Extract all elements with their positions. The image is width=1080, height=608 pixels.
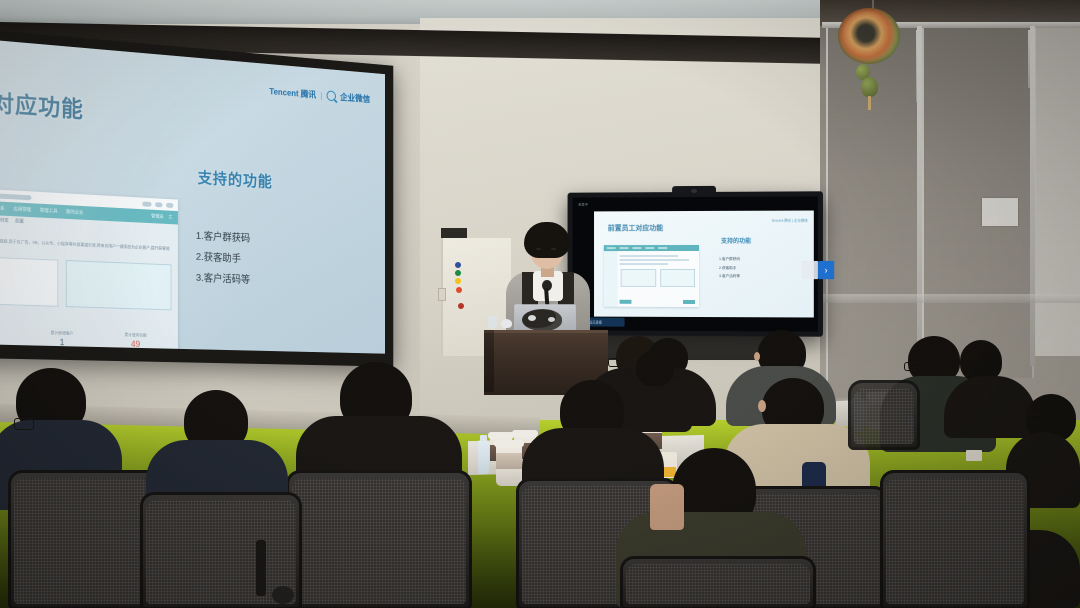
console-card-right: [66, 260, 172, 310]
audience-glasses-midrow-a: [608, 358, 623, 367]
tv-slide-subtitle: 支持的功能: [721, 236, 751, 245]
podium-side-panel: [484, 330, 494, 392]
embedded-console-screenshot: 首页 通讯录 客户联系 应用管理 管理工具 我的企业 管理员 工 客户联系 聊天…: [0, 186, 178, 353]
chair-mesh-front-center: [292, 478, 466, 604]
slide-subtitle: 支持的功能: [198, 165, 273, 192]
glass-band: [822, 294, 1080, 303]
console-nav-item-5: 我的企业: [66, 209, 83, 216]
chair-mesh-foreground: [626, 564, 810, 604]
slide-bullet-1: 1.客户群获码: [196, 225, 250, 248]
tv-bullet-2: 2.获客助手: [719, 263, 740, 272]
slide-brand-logo: Tencent 腾讯 | 企业微信: [269, 85, 370, 105]
chair-far-right[interactable]: [880, 470, 1030, 608]
console-admin-label: 管理员: [151, 214, 164, 220]
console-nav-right: 管理员 工: [151, 214, 172, 221]
projector-screen: 成对应功能 Tencent 腾讯 | 企业微信 支持的功能 1.客户群获码 2.…: [0, 28, 393, 367]
console-nav-item-4: 管理工具: [40, 208, 58, 215]
glass-notice-sign: [982, 198, 1018, 226]
podium-desk-items: [488, 316, 512, 328]
hanging-wreath-decoration: [838, 8, 900, 64]
tv-embedded-console: [604, 245, 699, 307]
projector-screen-surface: 成对应功能 Tencent 腾讯 | 企业微信 支持的功能 1.客户群获码 2.…: [0, 38, 385, 353]
console-stats-heading: 数据概览: [0, 311, 172, 324]
console-stat-2: 累计使用名额 49: [99, 331, 171, 349]
tv-slide-title: 前置员工对应功能: [608, 223, 663, 233]
tv-console-stats: [620, 286, 695, 293]
chair-back-right[interactable]: [848, 380, 920, 450]
console-stat-0-label: 当前剩余名额: [0, 327, 24, 335]
slide-bullet-3: 3.客户活码等: [196, 267, 250, 290]
window-mullion-right: [1030, 26, 1035, 366]
podium-small-object: [501, 319, 512, 328]
tv-next-slide-tag: [802, 261, 818, 279]
console-card-row: [0, 255, 172, 310]
console-card-left: [0, 255, 58, 307]
wecom-logo-text: 企业微信: [340, 91, 370, 105]
console-stat-0-value: 0: [0, 334, 24, 346]
water-bottle-center: [478, 440, 489, 474]
podium-water-cup: [488, 316, 497, 328]
audience-glasses-far-right-b: [1026, 414, 1041, 423]
wall-display-tv[interactable]: 投屏中 前置员工对应功能 Tencent 腾讯 | 企业微信 支持的功能 1.客…: [568, 191, 823, 336]
wreath-gourd-lower: [861, 77, 878, 97]
cup-lid-1: [488, 432, 514, 439]
conference-room-scene: 成对应功能 Tencent 腾讯 | 企业微信 支持的功能 1.客户群获码 2.…: [0, 0, 1080, 608]
chair-front-center[interactable]: [286, 470, 472, 608]
slide-bullet-2: 2.获客助手: [196, 246, 250, 269]
audience-glasses-front-left: [14, 418, 34, 430]
wall-outlet: [438, 288, 446, 301]
magnet-blue: [455, 262, 461, 268]
chair-mesh-far-right: [886, 478, 1024, 604]
magnet-yellow: [455, 278, 461, 284]
magnet-orange: [456, 287, 462, 293]
tv-console-cards: [621, 269, 695, 287]
audience-ear-beige-shirt: [758, 400, 766, 412]
window-blind-right: [1034, 26, 1080, 356]
audience-shoulders-far-right-a: [944, 376, 1036, 438]
tv-console-nav: [604, 245, 699, 251]
chair-mesh-back-right: [854, 388, 914, 444]
chair-caster-base: [256, 540, 266, 596]
tv-bullet-3: 3.客户活码等: [719, 272, 740, 281]
tv-slide-logo: Tencent 腾讯 | 企业微信: [771, 218, 807, 223]
slide-bullet-list: 1.客户群获码 2.获客助手 3.客户活码等: [196, 225, 250, 290]
magnet-red: [458, 303, 464, 309]
tencent-logo-text: Tencent 腾讯: [269, 85, 316, 101]
tv-next-slide-button[interactable]: ›: [818, 261, 834, 279]
laptop-sticker-decal: [522, 309, 562, 331]
audience-head-sidewall: [636, 350, 674, 386]
wecom-icon: [327, 90, 336, 101]
jacket-badge-patch: [966, 450, 982, 461]
cup-lid-2: [512, 430, 538, 437]
console-nav-item-3: 应用管理: [13, 206, 31, 213]
console-stat-0: 当前剩余名额 0: [0, 327, 24, 346]
chair-foreground[interactable]: [620, 556, 816, 608]
audience-glasses-phone-user: [904, 362, 919, 371]
tv-slide-bullets: 1.客户群获码 2.获客助手 3.客户活码等: [719, 255, 740, 281]
cup-lid-fg-left: [494, 440, 524, 447]
tv-console-buttons: [620, 300, 695, 304]
wreath-tassel: [868, 96, 871, 110]
tv-watermark: 投屏中: [578, 203, 588, 207]
tv-slide: 前置员工对应功能 Tencent 腾讯 | 企业微信 支持的功能 1.客户群获码…: [594, 211, 814, 318]
console-tab-3: 配置: [15, 218, 24, 224]
webcam-bar-icon: [672, 186, 716, 195]
slide-title: 成对应功能: [0, 82, 84, 124]
console-tab-2: 素材库: [0, 217, 9, 224]
audience-ear-midrow-c: [754, 352, 760, 361]
cup-sleeve-fg-left: [496, 453, 522, 469]
chair-caster-wheel: [272, 586, 294, 604]
audience-hand-foreground: [650, 484, 684, 530]
logo-separator: |: [320, 90, 322, 99]
coffee-cup-foreground-left: [496, 444, 522, 486]
console-body: 获客助手 企业可通过获客助手配置获客链接,用于在广告、H5、公众号、小程序等外部…: [0, 223, 178, 354]
tv-screen: 投屏中 前置员工对应功能 Tencent 腾讯 | 企业微信 支持的功能 1.客…: [572, 196, 817, 331]
presenter-fringe: [525, 230, 569, 245]
bottle-cap: [480, 435, 487, 441]
console-nav-item-2: 客户联系: [0, 205, 5, 212]
tv-bullet-1: 1.客户群获码: [719, 255, 740, 264]
console-user-avatar: 工: [168, 214, 172, 220]
tv-console-sidebar: [604, 251, 618, 307]
tv-console-text-rows: [620, 255, 695, 267]
console-stat-1: 累计新增客户 1: [24, 329, 99, 348]
magnet-green: [455, 270, 461, 276]
